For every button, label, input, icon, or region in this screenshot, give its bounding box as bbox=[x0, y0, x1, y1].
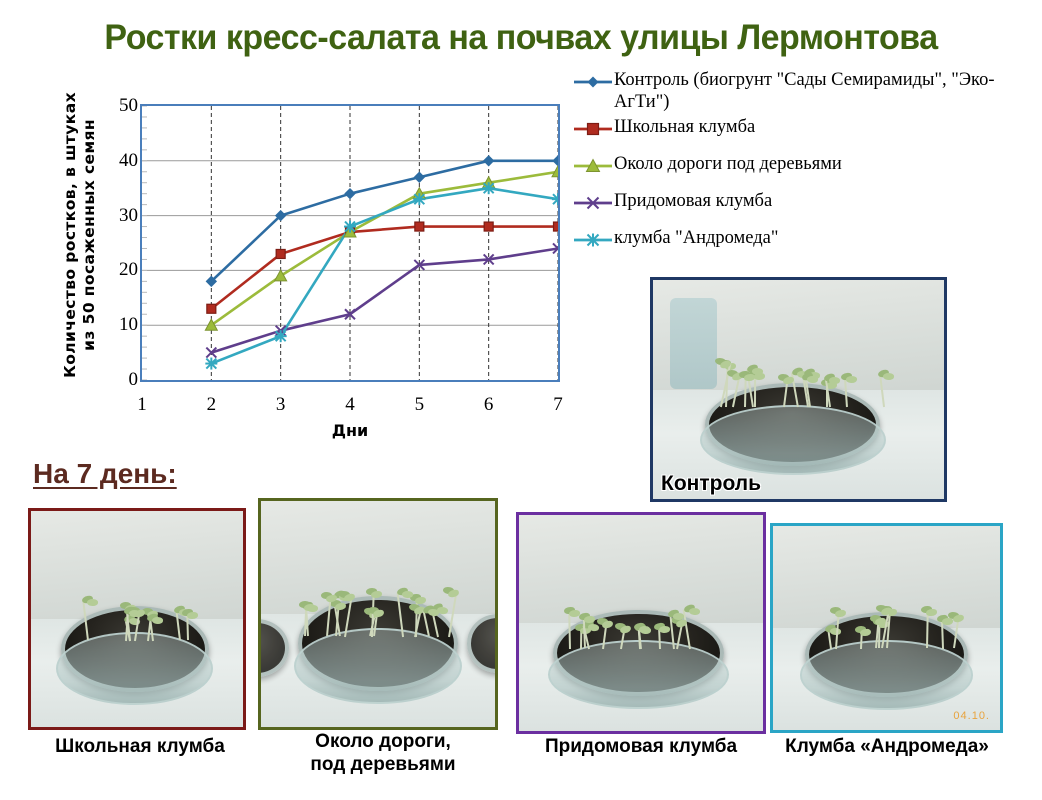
photo-road-caption-line2: под деревьями bbox=[310, 754, 455, 775]
sprout-leaf bbox=[672, 612, 684, 620]
x-tick-label: 6 bbox=[469, 394, 509, 416]
y-tick-label: 50 bbox=[98, 95, 138, 117]
legend-item[interactable]: Школьная клумба bbox=[572, 117, 1032, 140]
photo-datestamp: 04.10. bbox=[953, 710, 990, 722]
photo-road bbox=[258, 498, 498, 730]
sprout-leaf bbox=[846, 375, 857, 383]
scene-bottle bbox=[670, 298, 717, 390]
chart: Количество ростков, в штуках из 50 посаж… bbox=[36, 96, 576, 456]
photo-control bbox=[650, 277, 947, 502]
photo-andromeda: 04.10. bbox=[770, 523, 1003, 733]
photo-andromeda-caption: Клумба «Андромеда» bbox=[762, 736, 1012, 759]
photo-school-image bbox=[31, 511, 243, 727]
y-tick-label: 40 bbox=[98, 150, 138, 172]
day7-heading: На 7 день: bbox=[33, 458, 177, 490]
y-tick-label: 30 bbox=[98, 205, 138, 227]
plot-area: 01020304050 1234567 bbox=[140, 104, 560, 394]
y-axis-title-line2: из 50 посаженных семян bbox=[80, 119, 98, 351]
x-tick-label: 7 bbox=[538, 394, 578, 416]
photo-school-caption: Школьная клумба bbox=[20, 736, 260, 759]
legend-item[interactable]: Придомовая клумба bbox=[572, 191, 1032, 214]
petri-dish-rim bbox=[548, 640, 729, 709]
sprout-leaf bbox=[860, 628, 871, 636]
petri-dish-rim bbox=[56, 632, 213, 705]
photo-yard bbox=[516, 512, 766, 734]
photo-control-image bbox=[653, 280, 944, 499]
photo-road-image bbox=[261, 501, 495, 727]
photo-school bbox=[28, 508, 246, 730]
photo-andromeda-image: 04.10. bbox=[773, 526, 1000, 730]
legend-item[interactable]: Контроль (биогрунт "Сады Семирамиды", "Э… bbox=[572, 70, 1032, 113]
y-tick-label: 0 bbox=[98, 369, 138, 391]
y-tick-label: 20 bbox=[98, 259, 138, 281]
legend-marker-triangle-icon bbox=[572, 155, 614, 177]
photo-road-caption-line1: Около дороги, bbox=[315, 731, 451, 752]
petri-dish-rim bbox=[294, 628, 462, 705]
legend-item[interactable]: клумба "Андромеда" bbox=[572, 228, 1032, 251]
legend-label: клумба "Андромеда" bbox=[614, 228, 778, 250]
x-tick-label: 3 bbox=[261, 394, 301, 416]
x-tick-label: 2 bbox=[191, 394, 231, 416]
legend-label: Придомовая клумба bbox=[614, 191, 772, 213]
legend-marker-diamond-icon bbox=[572, 71, 614, 93]
photo-control-caption: Контроль bbox=[661, 472, 761, 496]
y-tick-label: 10 bbox=[98, 314, 138, 336]
photo-yard-image bbox=[519, 515, 763, 731]
chart-legend: Контроль (биогрунт "Сады Семирамиды", "Э… bbox=[572, 70, 1032, 255]
slide-root: Ростки кресс-салата на почвах улицы Лерм… bbox=[0, 0, 1042, 800]
petri-dish-rim bbox=[700, 405, 886, 475]
plot-frame bbox=[140, 104, 560, 382]
chart-svg bbox=[142, 106, 558, 380]
sprout-leaf bbox=[569, 610, 580, 617]
legend-item[interactable]: Около дороги под деревьями bbox=[572, 154, 1032, 177]
page-title: Ростки кресс-салата на почвах улицы Лерм… bbox=[16, 18, 1027, 58]
x-axis-title: Дни bbox=[140, 421, 560, 440]
y-axis-title-line1: Количество ростков, в штуках bbox=[61, 92, 79, 378]
x-tick-label: 5 bbox=[399, 394, 439, 416]
y-axis-title: Количество ростков, в штуках из 50 посаж… bbox=[61, 75, 99, 395]
x-tick-label: 4 bbox=[330, 394, 370, 416]
petri-dish-rim bbox=[800, 640, 973, 709]
legend-marker-asterisk-icon bbox=[572, 229, 614, 251]
photo-yard-caption: Придомовая клумба bbox=[508, 736, 774, 759]
legend-marker-square-icon bbox=[572, 118, 614, 140]
sprout-stem bbox=[926, 610, 929, 648]
legend-label: Около дороги под деревьями bbox=[614, 154, 842, 176]
legend-label: Школьная клумба bbox=[614, 117, 755, 139]
legend-label: Контроль (биогрунт "Сады Семирамиды", "Э… bbox=[614, 70, 1032, 113]
legend-marker-x-icon bbox=[572, 192, 614, 214]
x-tick-label: 1 bbox=[122, 394, 162, 416]
photo-road-caption: Около дороги, под деревьями bbox=[268, 731, 498, 777]
